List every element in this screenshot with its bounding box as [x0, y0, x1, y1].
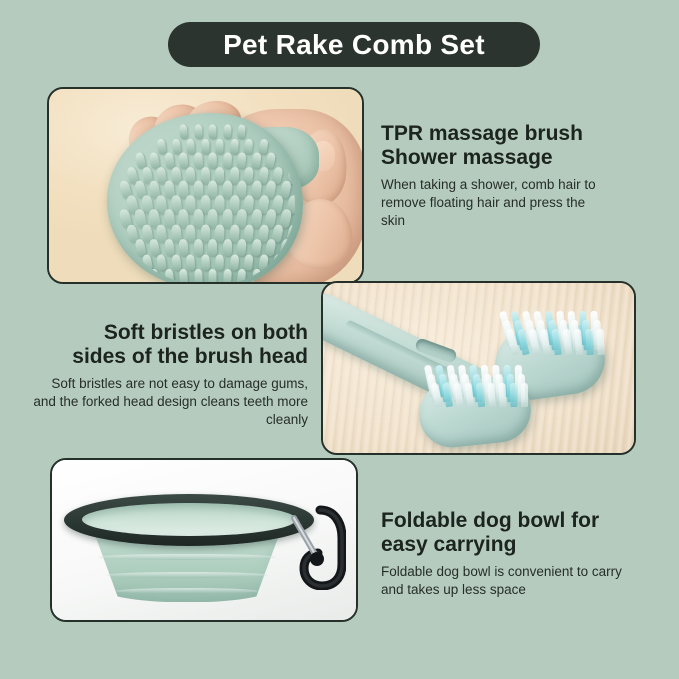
brush-nub [237, 152, 247, 169]
brush-nub [223, 124, 231, 139]
brush-nub [200, 224, 210, 242]
feature-body: When taking a shower, comb hair to remov… [381, 176, 609, 229]
bristle-tuft-white [498, 383, 506, 407]
brush-nub [251, 268, 261, 284]
brush-nub [194, 269, 203, 284]
brush-nub [244, 138, 254, 154]
brush-nub [215, 254, 224, 270]
brush-nub [237, 124, 246, 139]
feature-image-tpr-massage-brush [47, 87, 364, 284]
feature-image-foldable-dog-bowl [50, 458, 358, 622]
page-title-pill: Pet Rake Comb Set [168, 22, 540, 67]
brush-nub [258, 138, 268, 154]
brush-nub [236, 239, 247, 257]
brush-nub [209, 124, 217, 138]
bowl-rib [116, 588, 258, 594]
brush-nub [250, 239, 261, 257]
feature-heading: TPR massage brush Shower massage [381, 122, 609, 169]
brush-nub [149, 268, 159, 284]
brush-nub [186, 254, 195, 270]
brush-nub [200, 167, 209, 184]
brush-nub [193, 152, 202, 168]
brush-nub [258, 253, 269, 270]
brush-nub [222, 239, 232, 256]
bowl-rib [98, 554, 276, 560]
brush-nub [243, 254, 253, 271]
feature-heading-line-1: Soft bristles on both [104, 321, 308, 344]
brush-nub [201, 138, 209, 153]
brush-nub [171, 254, 181, 271]
feature-heading: Foldable dog bowl for easy carrying [381, 509, 627, 556]
bristle-tuft-cyan [510, 383, 518, 407]
brush-nub [215, 138, 223, 153]
brush-nub [201, 254, 210, 270]
brush-nub [265, 152, 276, 169]
brush-nub [223, 269, 232, 284]
brush-nub [156, 138, 166, 154]
feature-text-tpr-massage-brush: TPR massage brush Shower massage When ta… [381, 122, 609, 229]
feature-heading-line-2: easy carrying [381, 533, 516, 556]
brush-nub [186, 166, 196, 183]
feature-body: Foldable dog bowl is convenient to carry… [381, 563, 627, 599]
brush-nub [164, 152, 174, 169]
brush-nub [194, 124, 202, 139]
brush-nub [251, 152, 262, 169]
brush-nub [265, 238, 277, 256]
brush-nub [156, 253, 167, 270]
brush-nub [178, 239, 188, 256]
brush-nub [193, 239, 202, 256]
feature-body: Soft bristles are not easy to damage gum… [30, 375, 308, 428]
feature-image-soft-bristles [321, 281, 636, 455]
bristle-tuft-white [521, 383, 528, 407]
bowl-rim-inner-shape [82, 503, 296, 536]
feature-text-soft-bristles: Soft bristles on both sides of the brush… [30, 321, 308, 428]
feature-heading-line-1: TPR massage brush [381, 122, 583, 145]
brush-nub [215, 224, 225, 242]
brush-nub [208, 269, 216, 284]
brush-nub [208, 239, 217, 256]
brush-nub [164, 239, 175, 257]
carabiner-clip-icon [290, 504, 346, 590]
page-title: Pet Rake Comb Set [223, 31, 485, 59]
brush-nub [237, 269, 246, 284]
brush-nub [208, 152, 217, 168]
bristle-tuft-white [596, 329, 604, 355]
brush-nub [164, 269, 174, 284]
brush-nub [229, 138, 238, 154]
brush-nub [222, 152, 231, 168]
brush-nub [179, 269, 188, 284]
brush-nub [179, 124, 188, 139]
feature-heading-line-1: Foldable dog bowl for [381, 509, 599, 532]
feature-heading-line-2: sides of the brush head [72, 345, 308, 368]
brush-nub [215, 166, 224, 183]
feature-heading: Soft bristles on both sides of the brush… [30, 321, 308, 368]
bowl-rib [106, 572, 268, 578]
brush-nub [186, 138, 195, 154]
brush-nub [229, 254, 239, 271]
brush-nub-field [115, 119, 295, 284]
feature-heading-line-2: Shower massage [381, 146, 553, 169]
feature-text-foldable-dog-bowl: Foldable dog bowl for easy carrying Fold… [381, 509, 627, 599]
brush-nub [185, 224, 195, 242]
brush-nub [171, 138, 180, 154]
brush-nub [179, 152, 189, 169]
